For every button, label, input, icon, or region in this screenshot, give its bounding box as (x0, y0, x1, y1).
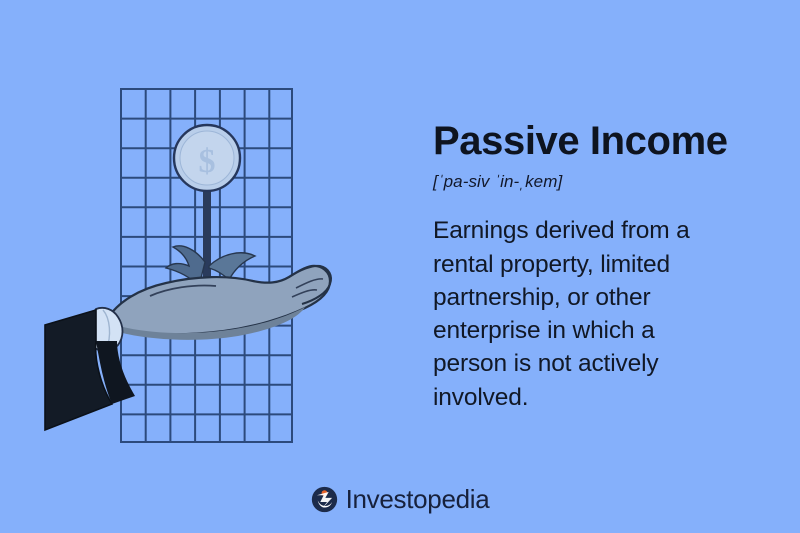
investopedia-logo[interactable]: Investopedia (0, 484, 800, 515)
coin-dollar-symbol: $ (199, 143, 216, 180)
page-title: Passive Income (433, 120, 763, 163)
investopedia-wordmark: Investopedia (346, 484, 490, 515)
definition-text-column: Passive Income [ˈpa-siv ˈin-ˌkem] Earnin… (433, 120, 763, 414)
pronunciation-text: [ˈpa-siv ˈin-ˌkem] (433, 172, 763, 192)
definition-body-text: Earnings derived from a rental property,… (433, 214, 733, 414)
infographic-canvas: $ (0, 0, 800, 533)
investopedia-logo-mark (311, 486, 338, 513)
illustration-hand-holding-money-plant: $ (0, 0, 400, 470)
dollar-coin: $ (174, 125, 240, 191)
